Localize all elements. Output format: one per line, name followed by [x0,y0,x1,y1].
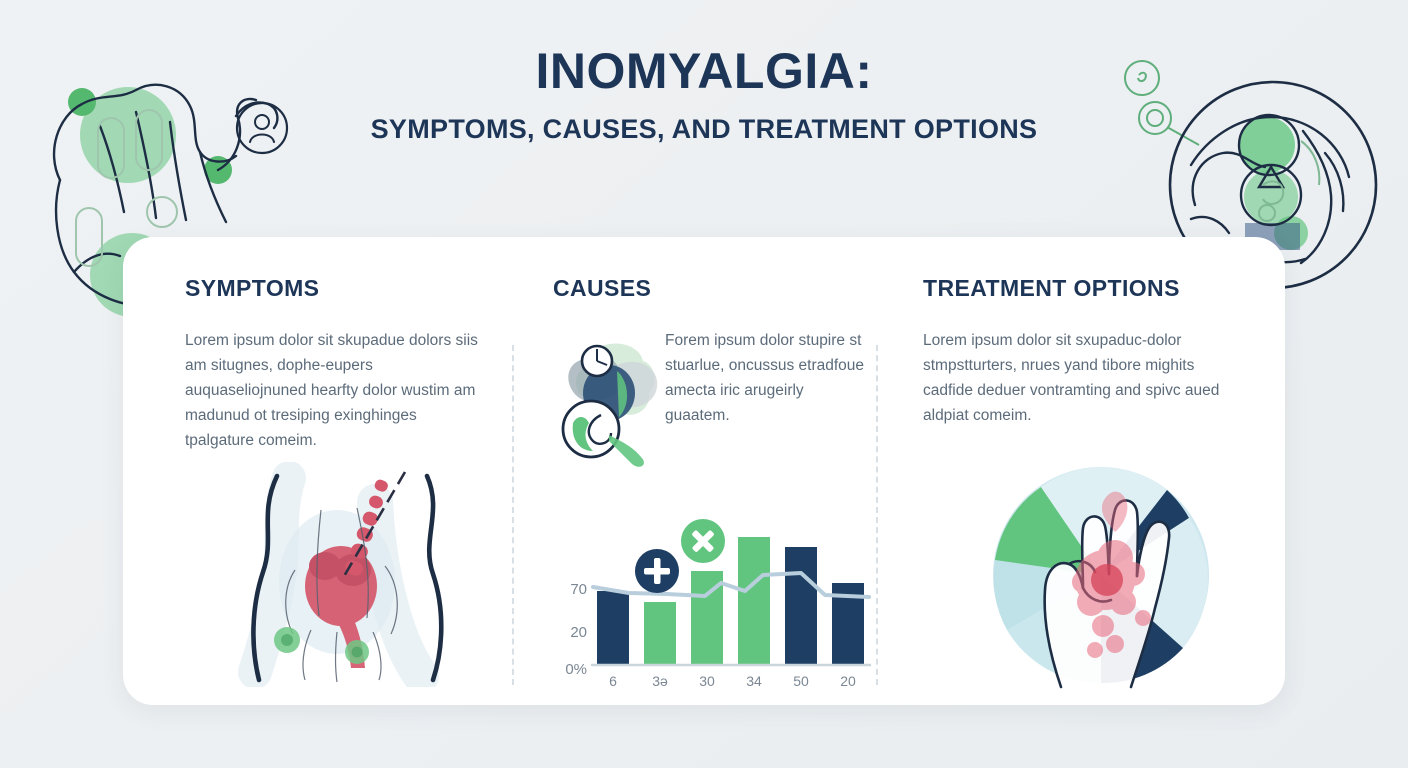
cross-badge [681,519,725,563]
header: INOMYALGIA: SYMPTOMS, CAUSES, AND TREATM… [0,44,1408,145]
chart-ytick-2: 0% [565,661,587,678]
column-treatment: TREATMENT OPTIONS Lorem ipsum dolor sit … [923,237,1253,705]
plus-badge [635,549,679,593]
chart-ytick-0: 70 [570,581,587,598]
column-title-symptoms: SYMPTOMS [185,275,515,302]
chart-xtick-3: 34 [746,673,762,689]
column-body-symptoms: Lorem ipsum dolor sit skupadue dolors si… [185,328,485,454]
column-symptoms: SYMPTOMS Lorem ipsum dolor sit skupadue … [185,237,515,705]
chart-xtick-0: 6 [609,673,617,689]
brain-nerve-icon [555,337,665,467]
chart-xtick-4: 50 [793,673,809,689]
page-subtitle: SYMPTOMS, CAUSES, AND TREATMENT OPTIONS [0,114,1408,145]
column-body-treatment: Lorem ipsum dolor sit sxupaduc-dolor stm… [923,328,1223,428]
column-title-causes: CAUSES [553,275,893,302]
bar-0 [597,591,629,665]
page-title: INOMYALGIA: [0,44,1408,98]
chart-xtick-2: 30 [699,673,715,689]
column-body-causes: Forem ipsum dolor stupire st stuarlue, o… [665,328,871,428]
bar-4 [785,547,817,665]
chart-ytick-1: 20 [570,624,587,641]
content-card: SYMPTOMS Lorem ipsum dolor sit skupadue … [123,237,1285,705]
torso-spine-pain-illustration [225,462,505,687]
column-causes: CAUSES Forem ipsum dolor stupire st stua… [553,237,893,705]
chart-xtick-1: 3ə [652,673,668,689]
bar-chart: 70 20 0% [563,475,883,690]
column-title-treatment: TREATMENT OPTIONS [923,275,1253,302]
bar-3 [738,537,770,665]
hand-pain-pie-illustration [983,462,1233,697]
infographic-page: INOMYALGIA: SYMPTOMS, CAUSES, AND TREATM… [0,0,1408,768]
chart-trend-line [593,573,869,597]
chart-bars [597,537,864,665]
chart-xtick-5: 20 [840,673,856,689]
bar-1 [644,602,676,665]
